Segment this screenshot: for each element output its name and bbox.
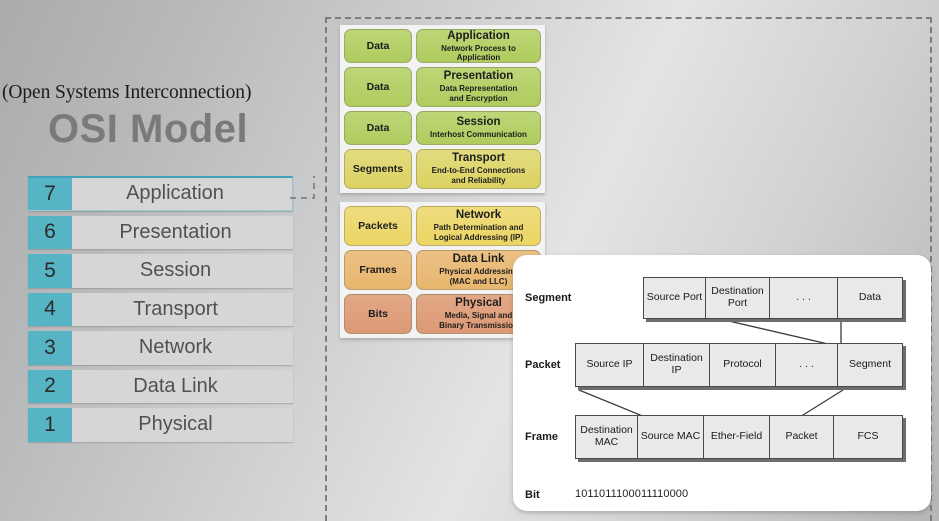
layer-description: Presentation Data Representation and Enc… (416, 67, 541, 107)
layer-number: 2 (28, 370, 72, 404)
layer-title: Physical (455, 297, 502, 310)
pdu-label: Frames (344, 250, 412, 290)
layer-subtitle-line1: Physical Addressing (439, 267, 517, 276)
packet-cell-segment[interactable]: Segment (838, 344, 902, 386)
layer-row-data-link[interactable]: 2 Data Link (28, 370, 293, 404)
layer-number: 3 (28, 331, 72, 365)
frame-cell-source-mac[interactable]: Source MAC (638, 416, 704, 458)
layer-subtitle-line1: Data Representation (440, 84, 518, 93)
encap-label-packet: Packet (525, 359, 560, 371)
layer-row-physical[interactable]: 1 Physical (28, 408, 293, 442)
bit-stream-value: 1011011100011110000 (575, 488, 688, 500)
layer-number: 7 (28, 178, 72, 210)
pdu-label: Data (344, 67, 412, 107)
encap-label-segment: Segment (525, 292, 571, 304)
pdu-label: Data (344, 111, 412, 145)
detail-row-network[interactable]: Packets Network Path Determination and L… (344, 206, 541, 246)
layer-subtitle-line1: Media, Signal and (445, 311, 513, 320)
layer-row-transport[interactable]: 4 Transport (28, 293, 293, 327)
segment-cell-destination-port[interactable]: DestinationPort (706, 278, 770, 318)
layer-name: Application (72, 178, 292, 210)
layer-name: Session (72, 254, 293, 288)
encapsulation-card: Segment Source Port DestinationPort . . … (513, 255, 931, 511)
layer-name: Data Link (72, 370, 293, 404)
layer-subtitle-line1: Path Determination and (434, 223, 524, 232)
layer-description: Application Network Process to Applicati… (416, 29, 541, 63)
osi-subtitle: (Open Systems Interconnection) (2, 82, 251, 104)
detail-row-presentation[interactable]: Data Presentation Data Representation an… (344, 67, 541, 107)
layer-name: Presentation (72, 216, 293, 250)
packet-cell-source-ip[interactable]: Source IP (576, 344, 644, 386)
pdu-label: Data (344, 29, 412, 63)
layer-subtitle-line2: and Encryption (449, 94, 507, 103)
page-title: OSI Model (48, 107, 248, 152)
detail-row-transport[interactable]: Segments Transport End-to-End Connection… (344, 149, 541, 189)
layer-row-application[interactable]: 7 Application (28, 176, 293, 211)
layer-number: 1 (28, 408, 72, 442)
layer-subtitle-line2: and Reliability (451, 176, 505, 185)
segment-cell-data[interactable]: Data (838, 278, 902, 318)
layer-title: Presentation (444, 70, 514, 83)
layer-name: Network (72, 331, 293, 365)
pdu-label: Segments (344, 149, 412, 189)
encap-label-frame: Frame (525, 431, 558, 443)
layer-subtitle-line1: End-to-End Connections (432, 166, 526, 175)
layer-title: Data Link (453, 253, 505, 266)
layer-description: Network Path Determination and Logical A… (416, 206, 541, 246)
layer-title: Transport (452, 152, 505, 165)
layer-description: Session Interhost Communication (416, 111, 541, 145)
osi-left-panel: (Open Systems Interconnection) OSI Model… (0, 0, 320, 521)
packet-pdu-bar: Source IP DestinationIP Protocol . . . S… (575, 343, 903, 387)
pdu-label: Bits (344, 294, 412, 334)
layer-row-presentation[interactable]: 6 Presentation (28, 216, 293, 250)
packet-cell-protocol[interactable]: Protocol (710, 344, 776, 386)
layer-name: Transport (72, 293, 293, 327)
frame-cell-destination-mac[interactable]: DestinationMAC (576, 416, 638, 458)
encap-label-bit: Bit (525, 489, 540, 501)
frame-cell-packet[interactable]: Packet (770, 416, 834, 458)
layer-subtitle-line2: (MAC and LLC) (450, 277, 508, 286)
layer-title: Application (447, 30, 510, 43)
layer-title: Network (456, 209, 501, 222)
layer-number: 4 (28, 293, 72, 327)
frame-cell-fcs[interactable]: FCS (834, 416, 902, 458)
layer-row-network[interactable]: 3 Network (28, 331, 293, 365)
segment-cell-source-port[interactable]: Source Port (644, 278, 706, 318)
detail-row-data-link[interactable]: Frames Data Link Physical Addressing (MA… (344, 250, 541, 290)
packet-cell-destination-ip[interactable]: DestinationIP (644, 344, 710, 386)
layer-subtitle-line1: Network Process to Application (419, 44, 538, 63)
layer-title: Session (456, 116, 500, 129)
frame-pdu-bar: DestinationMAC Source MAC Ether-Field Pa… (575, 415, 903, 459)
detail-row-session[interactable]: Data Session Interhost Communication (344, 111, 541, 145)
pdu-label: Packets (344, 206, 412, 246)
host-layers-group: Data Application Network Process to Appl… (340, 25, 545, 193)
layer-subtitle-line2: Logical Addressing (IP) (434, 233, 523, 242)
packet-cell-ellipsis: . . . (776, 344, 838, 386)
layer-subtitle-line2: Binary Transmission (439, 321, 518, 330)
detail-row-physical[interactable]: Bits Physical Media, Signal and Binary T… (344, 294, 541, 334)
layer-number: 5 (28, 254, 72, 288)
segment-pdu-bar: Source Port DestinationPort . . . Data (643, 277, 903, 319)
detail-row-application[interactable]: Data Application Network Process to Appl… (344, 29, 541, 63)
frame-cell-ether-field[interactable]: Ether-Field (704, 416, 770, 458)
layer-row-session[interactable]: 5 Session (28, 254, 293, 288)
layer-subtitle-line1: Interhost Communication (430, 130, 527, 139)
dashed-connector-icon (290, 176, 330, 224)
layer-number: 6 (28, 216, 72, 250)
osi-layer-list: 7 Application 6 Presentation 5 Session 4… (28, 176, 293, 447)
layer-name: Physical (72, 408, 293, 442)
segment-cell-ellipsis: . . . (770, 278, 838, 318)
layer-description: Transport End-to-End Connections and Rel… (416, 149, 541, 189)
